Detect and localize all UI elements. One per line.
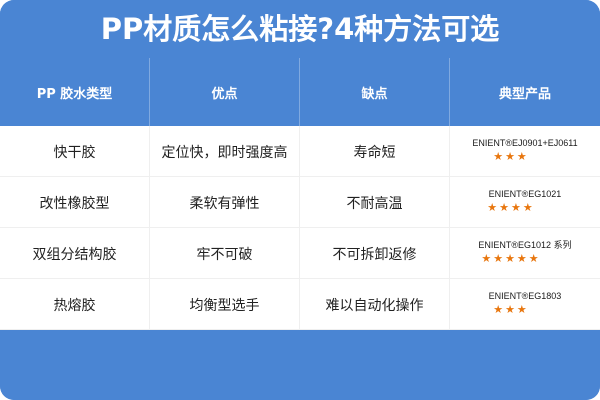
cell-glue-type: 热熔胶 [0, 279, 150, 330]
title-banner: PP材质怎么粘接?4种方法可选 [0, 0, 600, 58]
cell-cons: 不耐高温 [300, 177, 450, 228]
table-row: 热熔胶 均衡型选手 难以自动化操作 ENIENT®EG1803 ★★★ [0, 279, 600, 330]
column-header-glue-type: PP 胶水类型 [0, 58, 150, 126]
rating-stars: ★★★★ [487, 202, 534, 213]
cell-glue-type: 快干胶 [0, 126, 150, 177]
cell-product: ENIENT®EG1012 系列 ★★★★★ [450, 228, 600, 279]
column-header-product: 典型产品 [450, 58, 600, 126]
rating-stars: ★★★★★ [481, 253, 540, 264]
table-body: 快干胶 定位快，即时强度高 寿命短 ENIENT®EJ0901+EJ0611 ★… [0, 126, 600, 330]
comparison-table-card: PP材质怎么粘接?4种方法可选 PP 胶水类型 优点 缺点 典型产品 快干胶 定… [0, 0, 600, 400]
comparison-table: PP 胶水类型 优点 缺点 典型产品 快干胶 定位快，即时强度高 寿命短 ENI… [0, 58, 600, 330]
cell-pros: 定位快，即时强度高 [150, 126, 300, 177]
product-name: ENIENT®EG1803 [489, 292, 562, 302]
cell-cons: 不可拆卸返修 [300, 228, 450, 279]
cell-pros: 柔软有弹性 [150, 177, 300, 228]
cell-pros: 牢不可破 [150, 228, 300, 279]
table-row: 双组分结构胶 牢不可破 不可拆卸返修 ENIENT®EG1012 系列 ★★★★… [0, 228, 600, 279]
cell-product: ENIENT®EG1021 ★★★★ [450, 177, 600, 228]
cell-cons: 难以自动化操作 [300, 279, 450, 330]
column-header-cons: 缺点 [300, 58, 450, 126]
page-title: PP材质怎么粘接?4种方法可选 [101, 15, 500, 44]
cell-glue-type: 双组分结构胶 [0, 228, 150, 279]
product-name: ENIENT®EG1021 [489, 190, 562, 200]
rating-stars: ★★★ [493, 304, 529, 315]
product-name: ENIENT®EG1012 系列 [478, 241, 571, 251]
product-name: ENIENT®EJ0901+EJ0611 [472, 139, 577, 149]
footer-band [0, 330, 600, 400]
table-row: 改性橡胶型 柔软有弹性 不耐高温 ENIENT®EG1021 ★★★★ [0, 177, 600, 228]
rating-stars: ★★★ [493, 151, 529, 162]
cell-product: ENIENT®EJ0901+EJ0611 ★★★ [450, 126, 600, 177]
table-header-row: PP 胶水类型 优点 缺点 典型产品 [0, 58, 600, 126]
cell-glue-type: 改性橡胶型 [0, 177, 150, 228]
cell-pros: 均衡型选手 [150, 279, 300, 330]
table-row: 快干胶 定位快，即时强度高 寿命短 ENIENT®EJ0901+EJ0611 ★… [0, 126, 600, 177]
cell-product: ENIENT®EG1803 ★★★ [450, 279, 600, 330]
cell-cons: 寿命短 [300, 126, 450, 177]
column-header-pros: 优点 [150, 58, 300, 126]
